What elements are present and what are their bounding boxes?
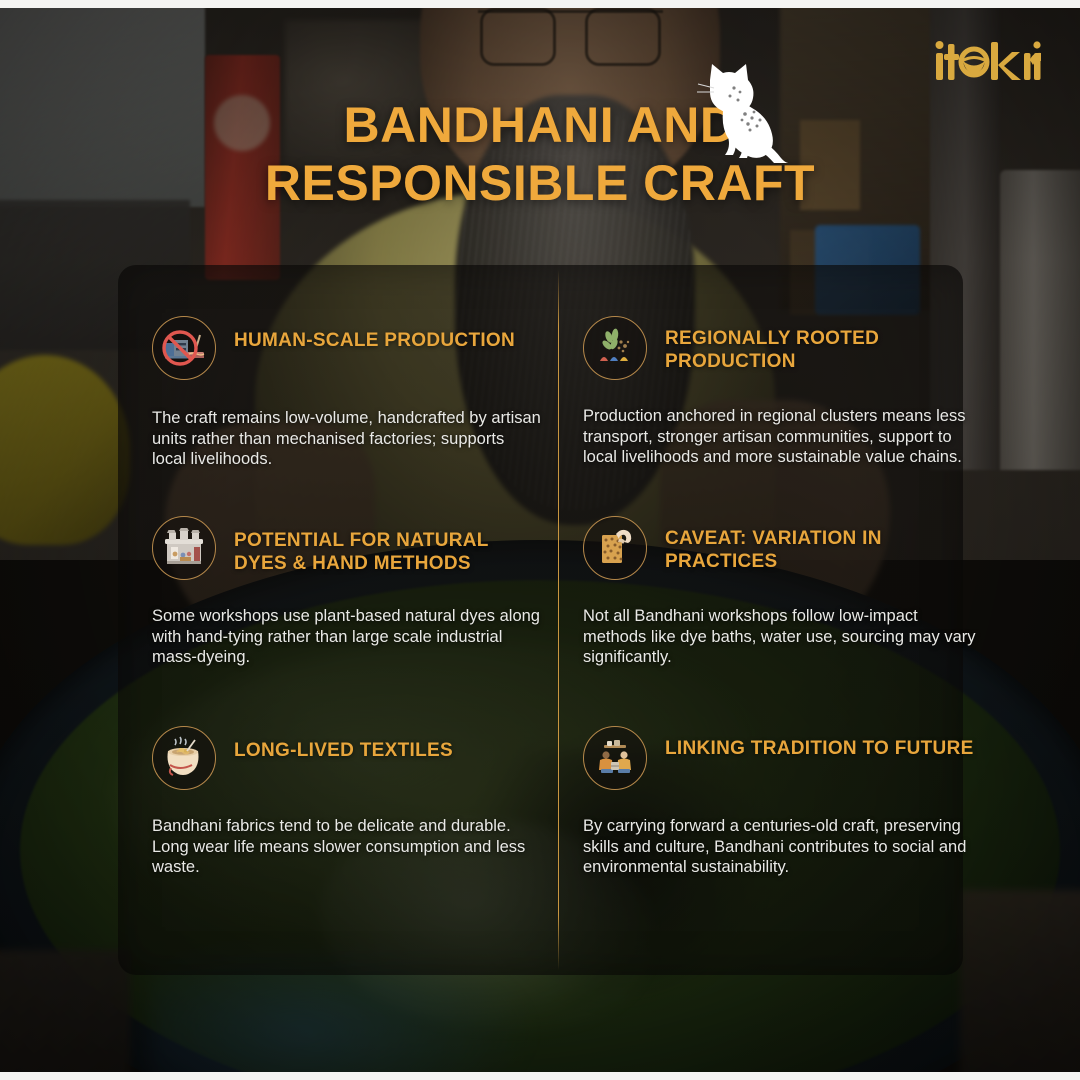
- card-long-lived-textiles: LONG-LIVED TEXTILES Bandhani fabrics ten…: [152, 726, 542, 878]
- hand-holding-fabric-icon: [583, 516, 647, 580]
- card-regionally-rooted-production: REGIONALLY ROOTED PRODUCTION Production …: [583, 316, 983, 468]
- card-body: By carrying forward a centuries-old craf…: [583, 816, 983, 878]
- card-header: HUMAN-SCALE PRODUCTION: [152, 316, 542, 380]
- two-artisans-icon: [583, 726, 647, 790]
- card-header: CAVEAT: VARIATION IN PRACTICES: [583, 516, 983, 580]
- card-body: Production anchored in regional clusters…: [583, 406, 983, 468]
- card-linking-tradition-to-future: LINKING TRADITION TO FUTURE By carrying …: [583, 726, 983, 878]
- card-body: The craft remains low-volume, handcrafte…: [152, 408, 542, 470]
- card-title: LONG-LIVED TEXTILES: [234, 726, 453, 762]
- card-header: POTENTIAL FOR NATURAL DYES & HAND METHOD…: [152, 516, 542, 580]
- card-caveat-variation-in-practices: CAVEAT: VARIATION IN PRACTICES Not all B…: [583, 516, 983, 668]
- card-title: HUMAN-SCALE PRODUCTION: [234, 316, 515, 352]
- natural-dye-leaves-icon: [583, 316, 647, 380]
- card-title: LINKING TRADITION TO FUTURE: [665, 726, 974, 760]
- card-title: REGIONALLY ROOTED PRODUCTION: [665, 316, 983, 373]
- card-header: LONG-LIVED TEXTILES: [152, 726, 542, 790]
- card-header: REGIONALLY ROOTED PRODUCTION: [583, 316, 983, 380]
- steaming-dye-pot-icon: [152, 726, 216, 790]
- card-body: Bandhani fabrics tend to be delicate and…: [152, 816, 542, 878]
- workshop-building-icon: [152, 516, 216, 580]
- card-body: Not all Bandhani workshops follow low-im…: [583, 606, 983, 668]
- card-body: Some workshops use plant-based natural d…: [152, 606, 542, 668]
- card-header: LINKING TRADITION TO FUTURE: [583, 726, 983, 790]
- cards-grid: HUMAN-SCALE PRODUCTION The craft remains…: [0, 0, 1080, 1080]
- card-title: CAVEAT: VARIATION IN PRACTICES: [665, 516, 983, 573]
- card-human-scale-production: HUMAN-SCALE PRODUCTION The craft remains…: [152, 316, 542, 470]
- card-natural-dyes-hand-methods: POTENTIAL FOR NATURAL DYES & HAND METHOD…: [152, 516, 542, 668]
- no-factory-icon: [152, 316, 216, 380]
- card-title: POTENTIAL FOR NATURAL DYES & HAND METHOD…: [234, 516, 542, 575]
